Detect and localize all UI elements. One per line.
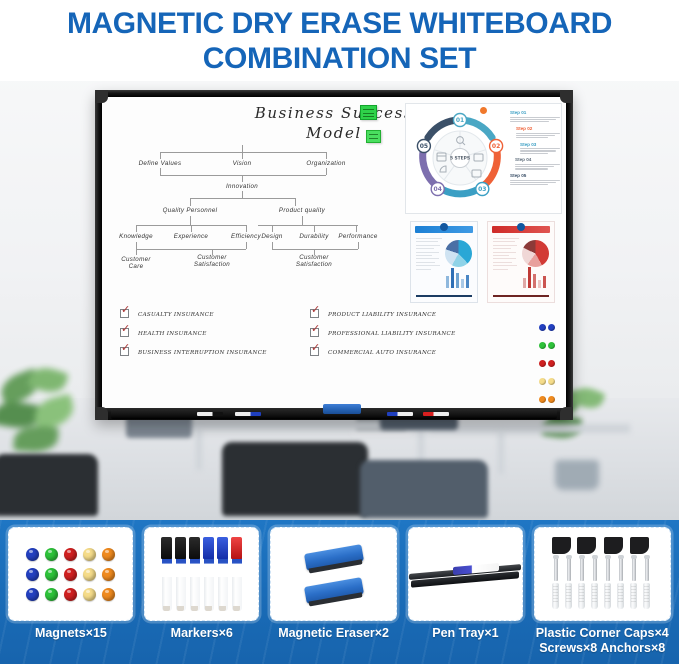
accessory-card — [408, 527, 523, 621]
poster-report-blue — [410, 221, 478, 303]
connector — [160, 168, 161, 175]
step-label: Step 04 — [515, 158, 560, 163]
corner-cap[interactable] — [630, 537, 649, 554]
step-label: Step 05 — [510, 174, 560, 179]
screw[interactable] — [593, 557, 597, 581]
corner-cap-top-right — [560, 90, 573, 103]
connector — [190, 198, 191, 206]
accessory-strip: Magnets×15 — [0, 520, 679, 664]
magnet-cream[interactable] — [83, 588, 96, 601]
node-vision: Vision — [233, 160, 252, 167]
connector — [326, 152, 327, 159]
node-experience: Experience — [174, 233, 208, 240]
magnet-cream[interactable] — [83, 568, 96, 581]
magnet-blue[interactable] — [26, 588, 39, 601]
check-mark-icon: ✓ — [311, 323, 320, 334]
connector — [242, 175, 243, 182]
board-pen-tray — [111, 410, 557, 419]
check-mark-icon: ✓ — [311, 342, 320, 353]
frame-edge-right — [566, 90, 573, 420]
page-title-line2: COMBINATION SET — [0, 41, 679, 76]
page-title-line1: MAGNETIC DRY ERASE WHITEBOARD — [0, 6, 679, 41]
magnet-red[interactable] — [64, 588, 77, 601]
magnet-cream[interactable] — [539, 378, 546, 385]
accessory-card — [534, 527, 671, 621]
tray-marker-black[interactable] — [197, 412, 223, 416]
chair-front-center — [222, 442, 368, 516]
node-line2: Satisfaction — [296, 261, 332, 268]
magnet-red[interactable] — [64, 548, 77, 561]
check-mark-icon: ✓ — [121, 342, 130, 353]
marker-set — [161, 537, 242, 611]
node-line2: Satisfaction — [194, 261, 230, 268]
ring-svg: 01 02 03 04 05 5 STEPS — [414, 112, 506, 204]
sticky-note-2[interactable] — [366, 130, 381, 143]
magnet-orange[interactable] — [539, 396, 546, 403]
whiteboard[interactable]: Business Success Model Define Values Vis… — [95, 90, 573, 420]
connector — [356, 225, 357, 232]
node-durability: Durability — [299, 233, 328, 240]
tray-marker-blue[interactable] — [387, 412, 413, 416]
check-mark-icon: ✓ — [121, 304, 130, 315]
connector — [136, 225, 137, 232]
screw[interactable] — [619, 557, 623, 581]
step-list: Step 01 Step 02 Step 03 Step 04 — [510, 111, 560, 190]
connector — [272, 249, 358, 250]
checklist-item: CASUALTY INSURANCE — [138, 312, 214, 318]
connector — [136, 242, 137, 249]
poster-text-lines — [493, 238, 519, 272]
node-define-values: Define Values — [139, 160, 182, 167]
poster-bar-chart — [445, 266, 471, 288]
marker-black[interactable] — [175, 537, 186, 611]
svg-text:02: 02 — [492, 143, 500, 150]
wall-anchor[interactable] — [643, 583, 650, 609]
poster-badge — [517, 223, 525, 231]
accessory-label-hardware: Plastic Corner Caps×4 Screws×8 Anchors×8 — [536, 626, 669, 656]
checklist-item: PRODUCT LIABILITY INSURANCE — [328, 312, 436, 318]
magnet-cream[interactable] — [83, 548, 96, 561]
accessory-label-magnets: Magnets×15 — [35, 626, 107, 641]
poster-footer-bar — [493, 295, 549, 297]
node-efficiency: Efficiency — [231, 233, 261, 240]
magnet-blue[interactable] — [26, 568, 39, 581]
accessory-card — [270, 527, 397, 621]
five-steps-ring: 01 02 03 04 05 5 STEPS — [414, 112, 506, 204]
accessory-erasers: Magnetic Eraser×2 — [268, 527, 400, 641]
connector — [190, 198, 295, 199]
connector — [326, 168, 327, 175]
magnetic-eraser[interactable] — [304, 544, 364, 571]
wall-anchor[interactable] — [604, 583, 611, 609]
screw[interactable] — [606, 557, 610, 581]
wall-anchor[interactable] — [578, 583, 585, 609]
node-quality-personnel: Quality Personnel — [163, 207, 218, 214]
tray-eraser-blue[interactable] — [323, 404, 361, 414]
magnet-blue[interactable] — [539, 324, 546, 331]
accessory-markers: Markers×6 — [142, 527, 262, 641]
poster-footer-bar — [416, 295, 472, 297]
check-mark-icon: ✓ — [121, 323, 130, 334]
magnet-red[interactable] — [539, 360, 546, 367]
node-line2: Care — [129, 263, 144, 270]
checklist-item: BUSINESS INTERRUPTION INSURANCE — [138, 350, 267, 356]
hardware-layout — [548, 535, 656, 613]
connector — [160, 152, 161, 159]
magnet-green[interactable] — [539, 342, 546, 349]
frame-edge-left — [95, 90, 102, 420]
magnet-sheet — [26, 548, 115, 601]
magnet-green[interactable] — [45, 568, 58, 581]
connector — [295, 198, 296, 206]
sticky-note-1[interactable] — [360, 105, 377, 120]
poster-text-lines — [416, 238, 442, 272]
connector — [358, 242, 359, 249]
step-item: Step 02 — [510, 127, 560, 138]
whiteboard-surface[interactable]: Business Success Model Define Values Vis… — [102, 97, 566, 408]
wall-anchor[interactable] — [591, 583, 598, 609]
magnet-blue[interactable] — [26, 548, 39, 561]
corner-cap-top-left — [95, 90, 108, 103]
magnet-red[interactable] — [548, 360, 555, 367]
accessory-label-pen-tray: Pen Tray×1 — [432, 626, 498, 641]
poster-bar-chart — [522, 266, 548, 288]
screw[interactable] — [645, 557, 649, 581]
screw[interactable] — [567, 557, 571, 581]
magnet-cream[interactable] — [548, 378, 555, 385]
accessory-card — [144, 527, 259, 621]
step-label: Step 01 — [510, 111, 560, 116]
accessory-hardware: Plastic Corner Caps×4 Screws×8 Anchors×8 — [531, 527, 673, 656]
poster-pie-chart — [522, 240, 549, 267]
connector — [191, 225, 192, 232]
node-customer-satisfaction-right: Customer Satisfaction — [296, 254, 332, 268]
connector — [272, 225, 273, 232]
step-item: Step 05 — [510, 174, 560, 185]
wall-anchor[interactable] — [552, 583, 559, 609]
magnet-orange[interactable] — [548, 396, 555, 403]
desk-right — [430, 424, 630, 433]
checklist-item: HEALTH INSURANCE — [138, 331, 207, 337]
connector — [190, 216, 191, 225]
corner-cap-bottom-right — [560, 407, 573, 420]
magnet-orange[interactable] — [102, 568, 115, 581]
wall-anchor[interactable] — [630, 583, 637, 609]
step-label: Step 02 — [516, 127, 560, 132]
magnet-red[interactable] — [64, 568, 77, 581]
node-organization: Organization — [306, 160, 345, 167]
marker-black[interactable] — [161, 537, 172, 611]
connector — [242, 152, 243, 159]
pen-tray-image — [409, 557, 521, 591]
hardware-label-line2: Screws×8 Anchors×8 — [536, 641, 669, 656]
node-knowledge: Knowledge — [119, 233, 153, 240]
poster-badge — [440, 223, 448, 231]
office-scene: Business Success Model Define Values Vis… — [0, 68, 679, 520]
tray-marker-blue[interactable] — [235, 412, 261, 416]
poster-report-red — [487, 221, 555, 303]
corner-cap[interactable] — [552, 537, 571, 554]
accessory-label-erasers: Magnetic Eraser×2 — [278, 626, 389, 641]
screw[interactable] — [554, 557, 558, 581]
corner-cap-bottom-left — [95, 407, 108, 420]
accessory-card — [8, 527, 133, 621]
chair-front-right — [360, 460, 488, 518]
step-item: Step 03 — [510, 143, 560, 154]
frame-edge-top — [95, 90, 573, 97]
connector — [246, 225, 247, 232]
connector — [136, 249, 246, 250]
node-line1: Customer — [299, 254, 329, 261]
poster-pie-chart — [445, 240, 472, 267]
connector — [246, 242, 247, 249]
node-customer-satisfaction-left: Customer Satisfaction — [194, 254, 230, 268]
magnet-green[interactable] — [45, 548, 58, 561]
connector — [272, 242, 273, 249]
ring-center-label: 5 STEPS — [450, 156, 470, 162]
magnet-green[interactable] — [548, 342, 555, 349]
wall-anchor[interactable] — [565, 583, 572, 609]
infographic-panel: 01 02 03 04 05 5 STEPS — [405, 103, 562, 214]
screw[interactable] — [632, 557, 636, 581]
board-magnet-grid[interactable] — [538, 319, 560, 408]
screw[interactable] — [580, 557, 584, 581]
step-item: Step 01 — [510, 111, 560, 122]
connector — [160, 175, 326, 176]
magnetic-eraser[interactable] — [304, 577, 364, 604]
hardware-label-line1: Plastic Corner Caps×4 — [536, 626, 669, 641]
checklist-item: PROFESSIONAL LIABILITY INSURANCE — [328, 331, 455, 337]
accessory-label-markers: Markers×6 — [171, 626, 233, 641]
node-performance: Performance — [338, 233, 377, 240]
check-mark-icon: ✓ — [311, 304, 320, 315]
checklist-item: COMMERCIAL AUTO INSURANCE — [328, 350, 436, 356]
desk-leg-3 — [498, 430, 504, 474]
node-design: Design — [261, 233, 282, 240]
magnet-orange[interactable] — [102, 588, 115, 601]
node-customer-care: Customer Care — [121, 256, 151, 270]
accessory-magnets: Magnets×15 — [6, 527, 136, 641]
step-label: Step 03 — [520, 143, 560, 148]
wall-anchor[interactable] — [617, 583, 624, 609]
product-title-block: MAGNETIC DRY ERASE WHITEBOARD COMBINATIO… — [0, 0, 679, 81]
magnet-orange[interactable] — [102, 548, 115, 561]
svg-text:03: 03 — [478, 186, 486, 193]
svg-text:04: 04 — [434, 186, 442, 193]
marker-red[interactable] — [231, 537, 242, 611]
node-product-quality: Product quality — [279, 207, 325, 214]
marker-blue[interactable] — [217, 537, 228, 611]
accessory-pen-tray: Pen Tray×1 — [405, 527, 525, 641]
magnet-blue[interactable] — [548, 324, 555, 331]
whiteboard-frame: Business Success Model Define Values Vis… — [95, 90, 573, 420]
node-innovation: Innovation — [226, 183, 258, 190]
step-item: Step 04 — [510, 158, 560, 169]
svg-text:05: 05 — [420, 143, 428, 150]
connector — [160, 152, 326, 153]
marker-black[interactable] — [189, 537, 200, 611]
connector — [302, 216, 303, 225]
connector — [136, 249, 137, 255]
tray-marker-red[interactable] — [423, 412, 449, 416]
corner-cap[interactable] — [604, 537, 623, 554]
magnet-green[interactable] — [45, 588, 58, 601]
svg-text:01: 01 — [456, 117, 464, 124]
corner-cap[interactable] — [577, 537, 596, 554]
desk-leg-1 — [196, 428, 202, 470]
marker-blue[interactable] — [203, 537, 214, 611]
node-line1: Customer — [121, 256, 151, 263]
chair-front-left — [0, 454, 98, 516]
connector — [258, 225, 358, 226]
connector — [314, 225, 315, 232]
node-line1: Customer — [197, 254, 227, 261]
